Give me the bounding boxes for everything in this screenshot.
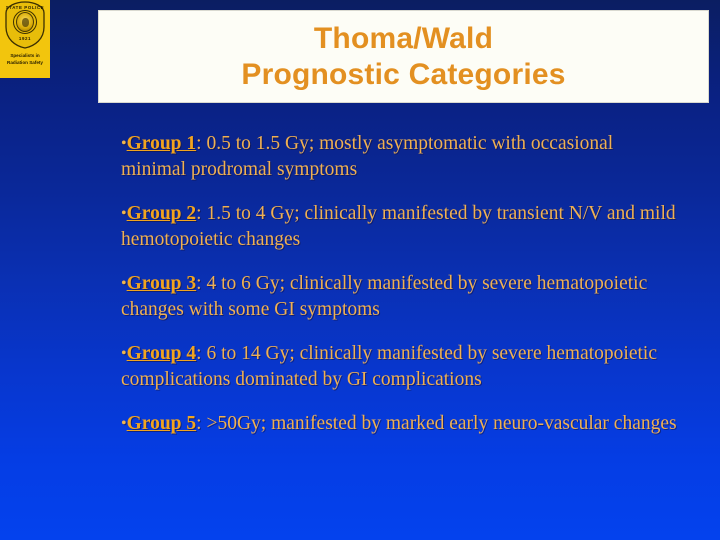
slide-title-line-1: Thoma/Wald [314,21,493,57]
bullet-text: : 1.5 to 4 Gy; clinically manifested by … [121,203,676,250]
slide-title-line-2: Prognostic Categories [241,57,565,93]
bullet-item: •Group 2: 1.5 to 4 Gy; clinically manife… [121,201,677,252]
bullet-label: Group 2 [127,203,197,224]
badge-arc-top-text: STATE POLICE [3,5,47,10]
slide-body: •Group 1: 0.5 to 1.5 Gy; mostly asymptom… [121,131,677,437]
bullet-text: : 4 to 6 Gy; clinically manifested by se… [121,273,647,320]
bullet-item: •Group 3: 4 to 6 Gy; clinically manifest… [121,271,677,322]
bullet-label: Group 1 [127,133,197,154]
bullet-text: : 6 to 14 Gy; clinically manifested by s… [121,343,657,390]
bullet-label: Group 4 [127,343,197,364]
bullet-item: •Group 5: >50Gy; manifested by marked ea… [121,411,677,437]
badge-arc-bottom-text: 1921 [3,36,47,41]
bullet-label: Group 5 [127,413,197,434]
bullet-text: : >50Gy; manifested by marked early neur… [196,413,676,434]
logo-caption-line2: Radiation Safety [0,59,50,66]
bullet-item: •Group 1: 0.5 to 1.5 Gy; mostly asymptom… [121,131,677,182]
bullet-item: •Group 4: 6 to 14 Gy; clinically manifes… [121,341,677,392]
bullet-label: Group 3 [127,273,197,294]
logo-caption-line1: Specialists in [0,52,50,59]
state-police-logo: STATE POLICE 1921 Specialists in Radiati… [0,0,50,78]
presentation-slide: STATE POLICE 1921 Specialists in Radiati… [0,0,720,540]
logo-caption: Specialists in Radiation Safety [0,52,50,66]
slide-title-box: Thoma/Wald Prognostic Categories [98,10,709,103]
badge-graphic: STATE POLICE 1921 [3,1,47,49]
badge-center-emblem-icon [16,12,34,32]
